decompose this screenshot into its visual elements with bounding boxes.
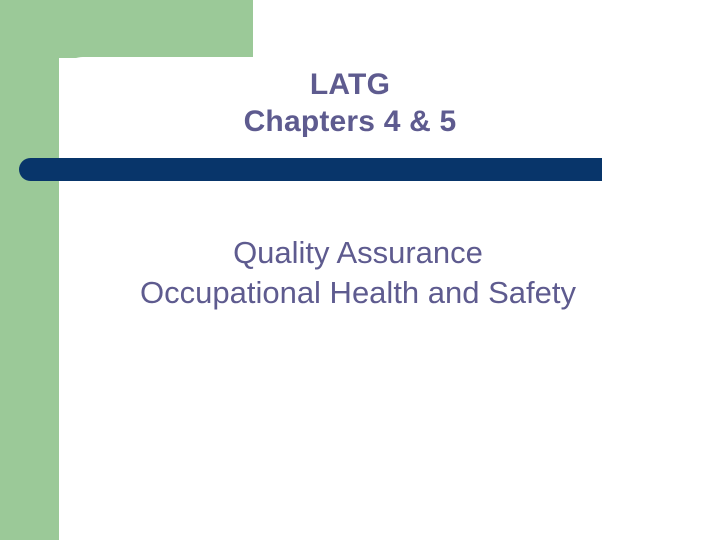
- presentation-slide: LATG Chapters 4 & 5 Quality Assurance Oc…: [0, 0, 720, 540]
- slide-subtitle: Quality Assurance Occupational Health an…: [58, 233, 658, 313]
- slide-subtitle-line-1: Quality Assurance: [58, 233, 658, 273]
- slide-subtitle-line-2: Occupational Health and Safety: [58, 273, 658, 313]
- green-sidebar-accent: [0, 0, 59, 540]
- slide-title-line-1: LATG: [100, 66, 600, 103]
- slide-title: LATG Chapters 4 & 5: [100, 66, 600, 140]
- green-top-band-accent: [0, 0, 253, 58]
- navy-divider-bar: [19, 158, 602, 181]
- slide-title-line-2: Chapters 4 & 5: [100, 103, 600, 140]
